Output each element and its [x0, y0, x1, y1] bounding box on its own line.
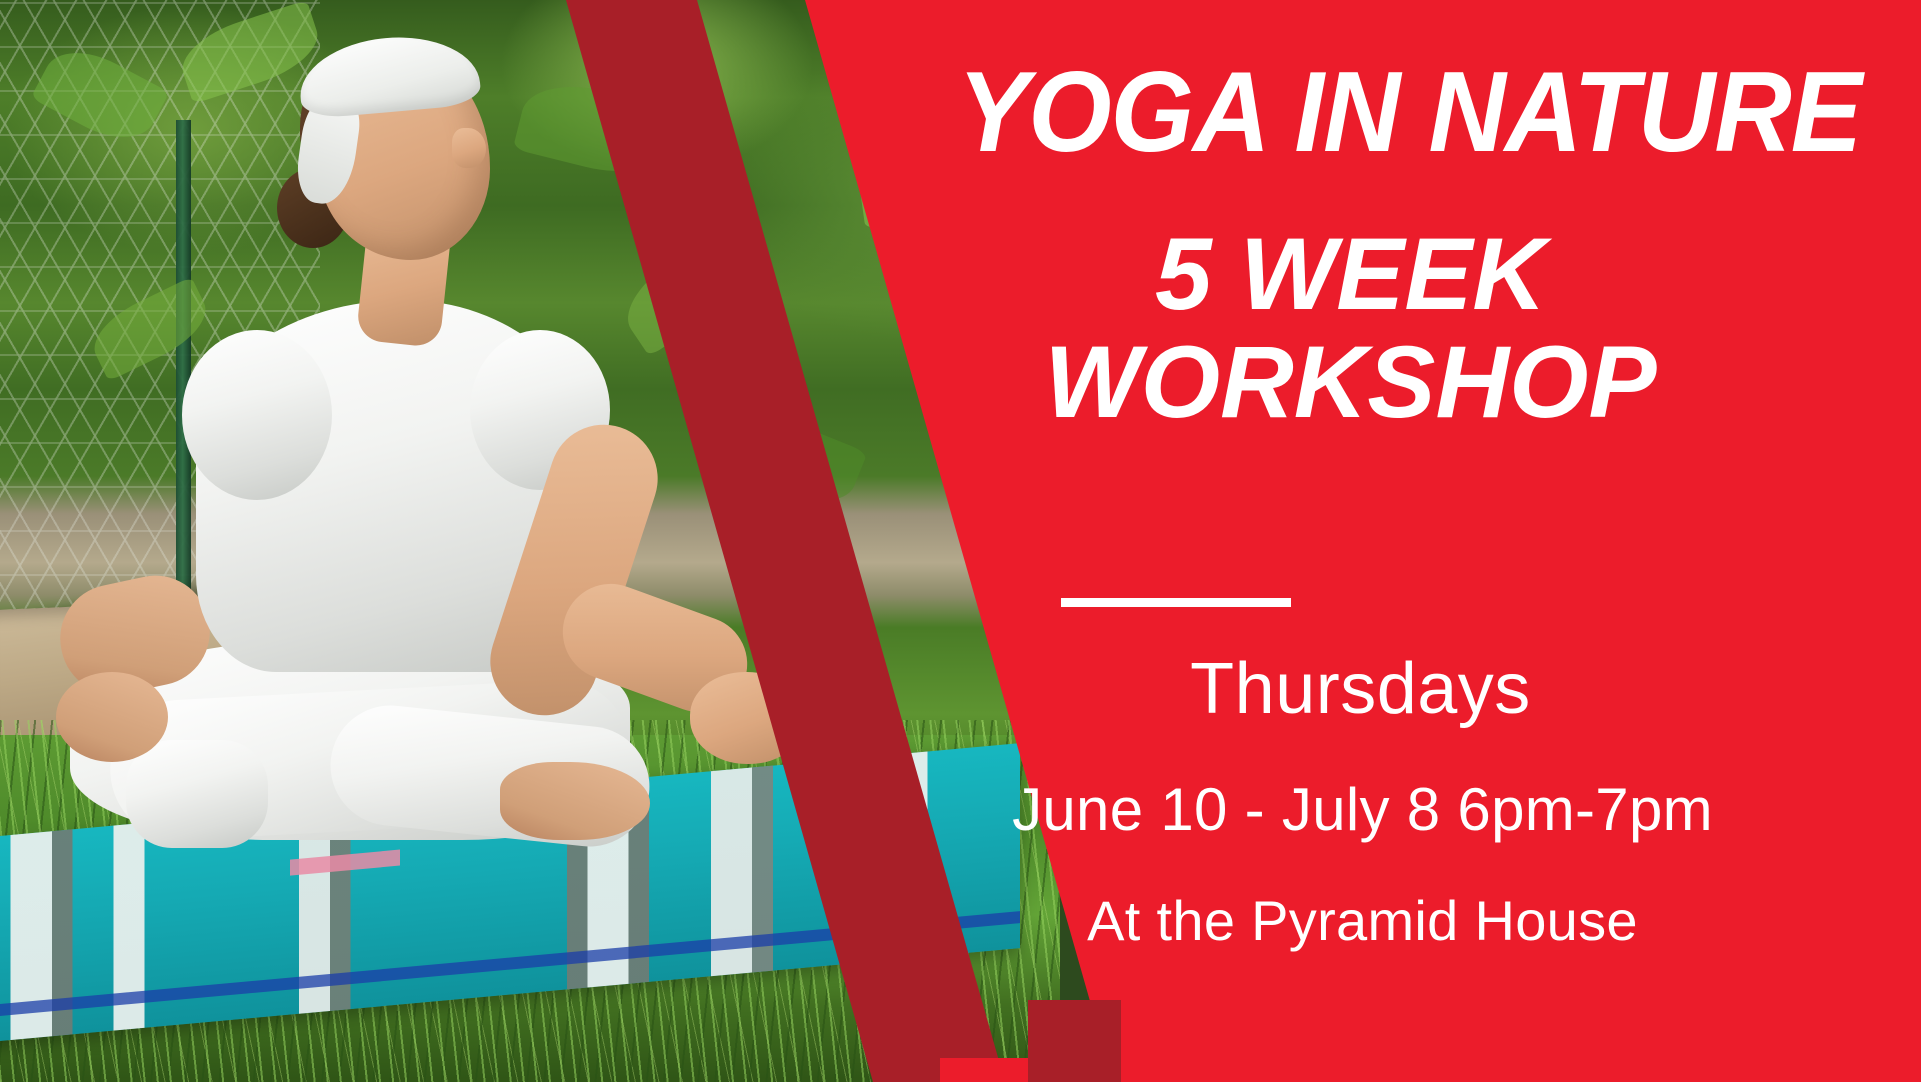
schedule-dates: June 10 - July 8 6pm-7pm	[840, 778, 1885, 841]
subheadline-2: WORKSHOP	[840, 330, 1861, 434]
divider-rule	[1061, 598, 1291, 607]
subheadline-1: 5 WEEK	[840, 222, 1861, 326]
headline: YOGA IN NATURE	[957, 56, 1861, 170]
woman-left-hand	[56, 672, 168, 762]
woman-foot	[500, 762, 650, 840]
woman-left-shoulder	[182, 330, 332, 500]
schedule-day: Thursdays	[840, 652, 1881, 728]
yoga-workshop-banner: YOGA IN NATURE 5 WEEK WORKSHOP Thursdays…	[0, 0, 1921, 1082]
poster-text-content: YOGA IN NATURE 5 WEEK WORKSHOP Thursdays…	[840, 0, 1921, 1082]
woman-nose	[452, 128, 486, 168]
woman-pant-cuff	[126, 740, 268, 848]
location: At the Pyramid House	[840, 892, 1885, 951]
